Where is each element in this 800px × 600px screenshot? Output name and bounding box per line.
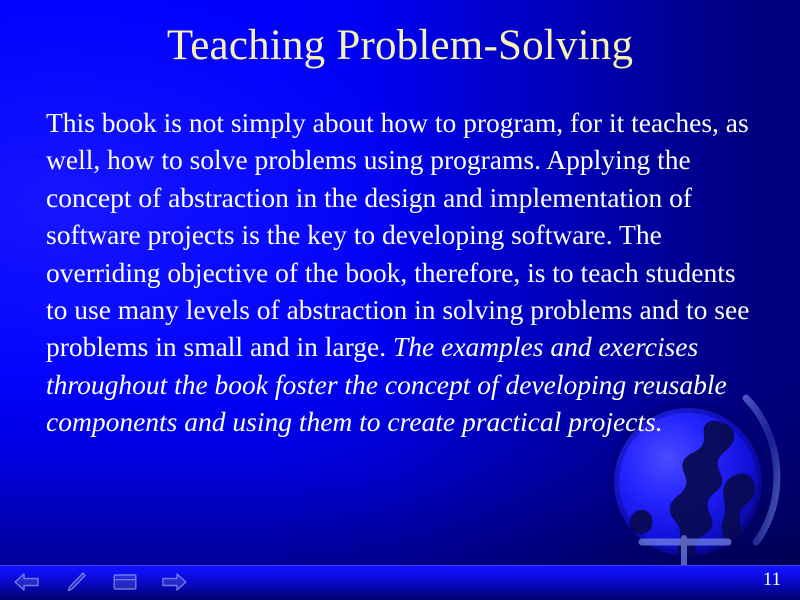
slide-title: Teaching Problem-Solving	[0, 20, 800, 72]
navigation-icon-group	[12, 567, 189, 597]
slide-body-text: This book is not simply about how to pro…	[46, 104, 752, 441]
body-paragraph-roman: This book is not simply about how to pro…	[46, 107, 749, 362]
next-slide-icon[interactable]	[159, 570, 189, 594]
pen-annotate-icon[interactable]	[61, 570, 91, 594]
previous-slide-icon[interactable]	[12, 570, 42, 594]
slide-page-number: 11	[752, 568, 792, 592]
slide-menu-icon[interactable]	[110, 570, 140, 594]
navbar-top-divider	[0, 565, 800, 566]
presentation-slide: Teaching Problem-Solving This book is no…	[0, 0, 800, 600]
